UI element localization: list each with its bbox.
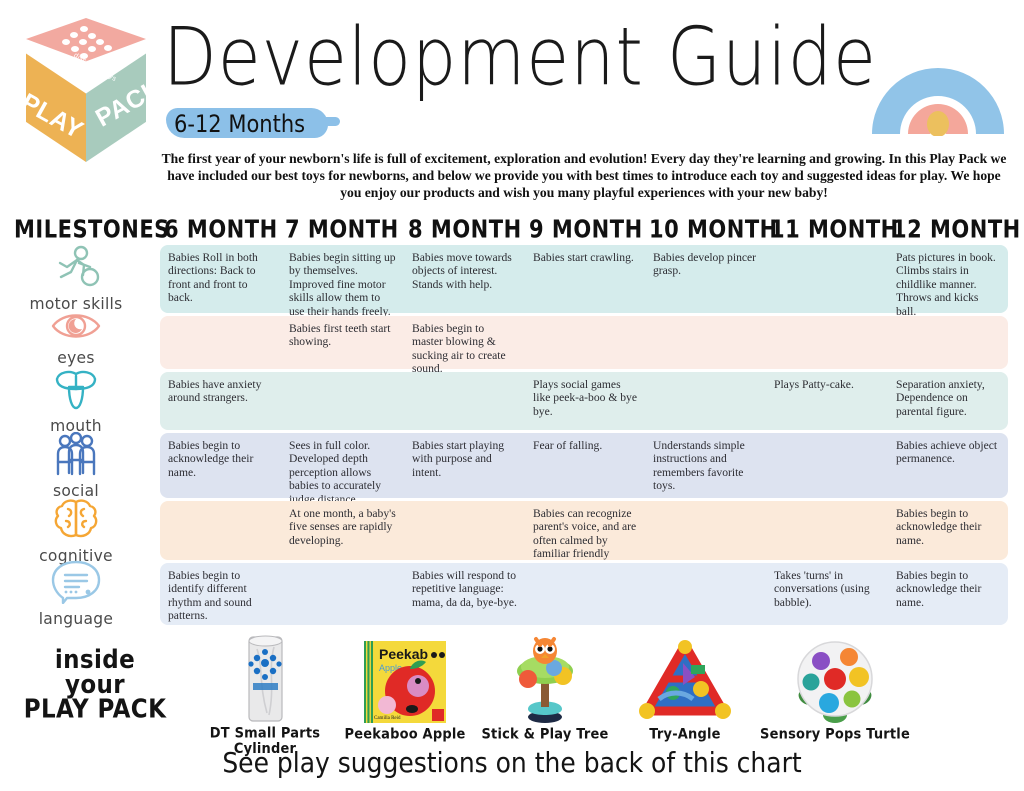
table-cell bbox=[404, 501, 525, 560]
milestone-label-language: language bbox=[0, 560, 152, 628]
table-cell: Babies begin sitting up by themselves. I… bbox=[281, 245, 404, 313]
table-cell bbox=[404, 372, 525, 430]
milestone-label-motor-skills: motor skills bbox=[0, 245, 152, 313]
milestone-row-language: languageBabies begin to identify differe… bbox=[0, 563, 1024, 625]
milestone-row-eyes: eyesBabies first teeth start showing.Bab… bbox=[0, 316, 1024, 369]
age-range-label: 6-12 Months bbox=[174, 110, 305, 138]
table-cell: Takes 'turns' in conversations (using ba… bbox=[766, 563, 888, 625]
milestone-row-social: socialBabies begin to acknowledge their … bbox=[0, 433, 1024, 498]
footer-note: See play suggestions on the back of this… bbox=[0, 748, 1024, 777]
table-cell: Pats pictures in book. Climbs stairs in … bbox=[888, 245, 1008, 313]
turtle-toy-icon bbox=[760, 630, 910, 725]
column-header-month-11: 11 MONTH bbox=[770, 215, 899, 243]
brain-icon bbox=[0, 497, 152, 546]
product-item[interactable]: PeekabAppleCamilla ReidPeekaboo Apple bbox=[330, 630, 480, 742]
table-cell: Babies start crawling. bbox=[525, 245, 645, 313]
table-cell bbox=[888, 316, 1008, 369]
intro-paragraph: The first year of your newborn's life is… bbox=[160, 150, 1008, 202]
table-cell: Babies achieve object permanence. bbox=[888, 433, 1008, 498]
cylinder-toy-icon bbox=[190, 630, 340, 725]
column-header-month-7: 7 MONTH bbox=[285, 215, 399, 243]
table-cell: At one month, a baby's five senses are r… bbox=[281, 501, 404, 560]
table-cell bbox=[281, 563, 404, 625]
table-cell: Babies begin to acknowledge their name. bbox=[160, 433, 281, 498]
page-title: Development Guide bbox=[163, 16, 877, 97]
table-cell bbox=[766, 501, 888, 560]
table-cell: Babies develop pincer grasp. bbox=[645, 245, 766, 313]
running-figure-icon bbox=[0, 245, 152, 294]
product-item[interactable]: Sensory Pops Turtle bbox=[760, 630, 910, 742]
table-cell: Sees in full color. Developed depth perc… bbox=[281, 433, 404, 498]
product-name: Stick & Play Tree bbox=[470, 727, 620, 742]
table-cell bbox=[645, 563, 766, 625]
table-cell bbox=[645, 501, 766, 560]
table-cell: Babies begin to acknowledge their name. bbox=[888, 501, 1008, 560]
speech-bubble-icon bbox=[0, 560, 152, 609]
table-column-headers: MILESTONES6 MONTH7 MONTH8 MONTH9 MONTH10… bbox=[0, 215, 1024, 243]
column-header-month-6: 6 MONTH bbox=[164, 215, 278, 243]
table-cell: Plays Patty-cake. bbox=[766, 372, 888, 430]
inside-title-line-1: inside bbox=[20, 648, 170, 673]
people-group-icon bbox=[0, 432, 152, 481]
product-item[interactable]: Stick & Play Tree bbox=[470, 630, 620, 742]
table-cell: Separation anxiety, Dependence on parent… bbox=[888, 372, 1008, 430]
column-header-month-8: 8 MONTH bbox=[408, 215, 522, 243]
milestone-label-cognitive: cognitive bbox=[0, 497, 152, 565]
column-header-month-9: 9 MONTH bbox=[529, 215, 643, 243]
svg-text:Peekab: Peekab bbox=[379, 646, 428, 662]
milestone-name: language bbox=[0, 610, 152, 629]
triangle-toy-icon bbox=[610, 630, 760, 725]
table-cell: Babies begin to identify different rhyth… bbox=[160, 563, 281, 625]
column-header-month-10: 10 MONTH bbox=[649, 215, 778, 243]
milestone-label-eyes: eyes bbox=[0, 309, 152, 367]
inside-your-play-pack-section: insideyourPLAY PACK DT Small Parts Cylin… bbox=[0, 630, 1024, 791]
milestone-row-motor-skills: motor skillsBabies Roll in both directio… bbox=[0, 245, 1024, 313]
tree-toy-icon bbox=[470, 630, 620, 725]
product-name: Try-Angle bbox=[610, 727, 760, 742]
product-name: Peekaboo Apple bbox=[330, 727, 480, 742]
table-cell: Babies begin to master blowing & sucking… bbox=[404, 316, 525, 369]
play-pack-logo: discovery toys PLAY PACK bbox=[12, 16, 160, 166]
table-cell bbox=[281, 372, 404, 430]
book-toy-icon: PeekabAppleCamilla Reid bbox=[330, 630, 480, 725]
milestone-label-mouth: mouth bbox=[0, 367, 152, 435]
product-item[interactable]: Try-Angle bbox=[610, 630, 760, 742]
table-cell: Fear of falling. bbox=[525, 433, 645, 498]
table-cell bbox=[160, 316, 281, 369]
development-guide-page: discovery toys PLAY PACK Development Gui… bbox=[0, 0, 1024, 791]
table-cell bbox=[525, 316, 645, 369]
table-cell bbox=[766, 316, 888, 369]
milestone-row-cognitive: cognitiveAt one month, a baby's five sen… bbox=[0, 501, 1024, 560]
table-cell bbox=[766, 433, 888, 498]
inside-title-line-3: PLAY PACK bbox=[20, 697, 170, 722]
table-cell: Babies will respond to repetitive langua… bbox=[404, 563, 525, 625]
page-header: discovery toys PLAY PACK Development Gui… bbox=[0, 0, 1024, 150]
product-item[interactable]: DT Small Parts Cylinder bbox=[190, 630, 340, 756]
table-cell: Babies can recognize parent's voice, and… bbox=[525, 501, 645, 560]
product-name: Sensory Pops Turtle bbox=[760, 727, 910, 742]
table-cell: Babies first teeth start showing. bbox=[281, 316, 404, 369]
table-cell: Babies Roll in both directions: Back to … bbox=[160, 245, 281, 313]
table-cell bbox=[645, 316, 766, 369]
inside-your-play-pack-title: insideyourPLAY PACK bbox=[20, 648, 170, 722]
inside-title-line-2: your bbox=[20, 673, 170, 698]
table-cell: Babies begin to acknowledge their name. bbox=[888, 563, 1008, 625]
table-cell: Babies start playing with purpose and in… bbox=[404, 433, 525, 498]
table-cell: Babies have anxiety around strangers. bbox=[160, 372, 281, 430]
milestone-name: eyes bbox=[0, 348, 152, 367]
svg-text:Camilla Reid: Camilla Reid bbox=[374, 716, 401, 721]
table-cell bbox=[525, 563, 645, 625]
table-cell: Understands simple instructions and reme… bbox=[645, 433, 766, 498]
milestones-table: MILESTONES6 MONTH7 MONTH8 MONTH9 MONTH10… bbox=[0, 215, 1024, 630]
table-cell bbox=[645, 372, 766, 430]
table-cell: Babies move towards objects of interest.… bbox=[404, 245, 525, 313]
milestone-row-mouth: mouthBabies have anxiety around stranger… bbox=[0, 372, 1024, 430]
table-corner-header: MILESTONES bbox=[14, 215, 170, 243]
column-header-month-12: 12 MONTH bbox=[892, 215, 1021, 243]
rainbow-icon bbox=[864, 18, 1012, 136]
table-cell bbox=[766, 245, 888, 313]
mouth-tongue-icon bbox=[0, 367, 152, 416]
footer-note-text: See play suggestions on the back of this… bbox=[222, 746, 801, 778]
eye-icon bbox=[0, 309, 152, 348]
table-cell bbox=[160, 501, 281, 560]
table-cell: Plays social games like peek-a-boo & bye… bbox=[525, 372, 645, 430]
milestone-label-social: social bbox=[0, 432, 152, 500]
